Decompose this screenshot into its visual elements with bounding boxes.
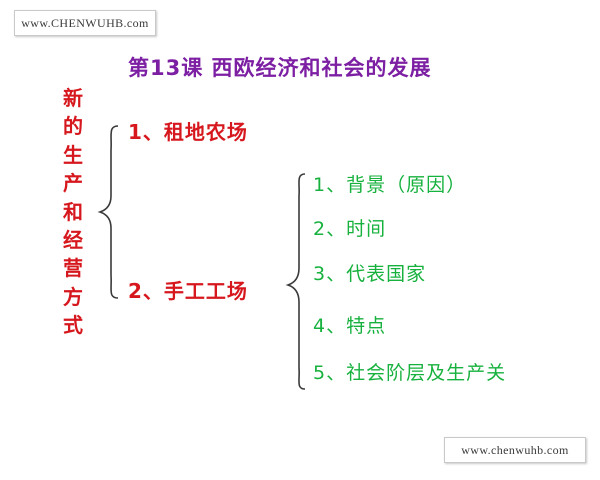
vertical-heading-char: 生	[58, 141, 88, 169]
vertical-heading-char: 营	[58, 254, 88, 282]
vertical-heading-char: 和	[58, 198, 88, 226]
slide-canvas: www.CHENWUHB.com www.chenwuhb.com 第13课 西…	[0, 0, 600, 480]
vertical-heading-char: 方	[58, 283, 88, 311]
level2-item-4: 4、特点	[313, 311, 386, 338]
right-curly-brace	[288, 174, 305, 389]
vertical-heading-char: 新	[58, 84, 88, 112]
level1-item-2: 2、手工工场	[128, 275, 248, 304]
level2-item-1: 1、背景（原因）	[313, 170, 466, 197]
page-title: 第13课 西欧经济和社会的发展	[128, 52, 432, 82]
level1-item-1: 1、租地农场	[128, 116, 248, 145]
vertical-heading: 新 的 生 产 和 经 营 方 式	[58, 84, 88, 340]
watermark-bottom: www.chenwuhb.com	[444, 437, 586, 463]
watermark-top: www.CHENWUHB.com	[14, 10, 156, 36]
vertical-heading-char: 的	[58, 112, 88, 140]
level2-item-3: 3、代表国家	[313, 259, 426, 286]
level2-item-5: 5、社会阶层及生产关	[313, 358, 506, 385]
vertical-heading-char: 式	[58, 311, 88, 339]
vertical-heading-char: 产	[58, 169, 88, 197]
vertical-heading-char: 经	[58, 226, 88, 254]
level2-item-2: 2、时间	[313, 214, 386, 241]
left-curly-brace	[100, 126, 118, 298]
